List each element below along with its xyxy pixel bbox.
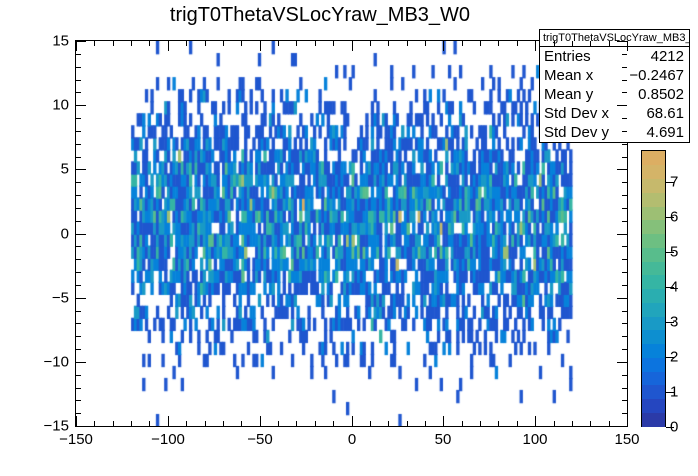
x-tick-minor	[94, 421, 95, 426]
y-tick-minor-right	[622, 259, 627, 260]
x-tick-minor-top	[498, 41, 499, 46]
y-tick-minor	[76, 182, 81, 183]
x-tick-minor	[407, 421, 408, 426]
y-tick-minor-right	[622, 311, 627, 312]
stats-value: 0.8502	[638, 86, 684, 103]
stats-value: −0.2467	[629, 67, 684, 84]
palette-tick-label: 2	[670, 349, 678, 366]
x-tick-major-top	[76, 41, 77, 51]
x-tick-minor-top	[333, 41, 334, 46]
palette-tick-label: 7	[670, 174, 678, 191]
x-tick-minor-top	[186, 41, 187, 46]
x-tick-minor-top	[572, 41, 573, 46]
y-tick-major-right	[617, 105, 627, 106]
x-tick-major	[627, 416, 628, 426]
y-tick-minor-right	[622, 195, 627, 196]
x-tick-minor	[315, 421, 316, 426]
x-tick-minor	[388, 421, 389, 426]
x-tick-label: −50	[247, 431, 272, 448]
stats-box-title: trigT0ThetaVSLocYraw_MB3_W0	[540, 30, 689, 47]
x-tick-major	[76, 416, 77, 426]
y-tick-minor	[76, 80, 81, 81]
palette-tick-label: 4	[670, 279, 678, 296]
x-tick-minor-top	[554, 41, 555, 46]
stats-row: Entries4212	[540, 47, 689, 66]
stats-key: Mean y	[544, 86, 593, 103]
y-tick-minor	[76, 311, 81, 312]
y-tick-minor	[76, 323, 81, 324]
x-tick-major-top	[535, 41, 536, 51]
x-tick-minor-top	[370, 41, 371, 46]
x-tick-minor	[113, 421, 114, 426]
x-tick-minor	[554, 421, 555, 426]
y-tick-minor-right	[622, 400, 627, 401]
x-tick-minor	[296, 421, 297, 426]
y-tick-minor	[76, 349, 81, 350]
x-tick-minor-top	[278, 41, 279, 46]
stats-key: Mean x	[544, 67, 593, 84]
x-tick-minor-top	[223, 41, 224, 46]
x-tick-minor	[223, 421, 224, 426]
y-tick-minor	[76, 246, 81, 247]
stats-key: Std Dev x	[544, 105, 609, 122]
x-tick-major	[168, 416, 169, 426]
x-tick-minor-top	[113, 41, 114, 46]
x-tick-major-top	[168, 41, 169, 51]
x-tick-minor-top	[590, 41, 591, 46]
y-tick-minor-right	[622, 208, 627, 209]
x-tick-major-top	[627, 41, 628, 51]
y-tick-minor	[76, 195, 81, 196]
y-tick-major	[76, 234, 86, 235]
y-tick-label: −15	[23, 418, 69, 435]
x-tick-label: 100	[522, 431, 547, 448]
palette-tick-label: 5	[670, 244, 678, 261]
y-tick-major	[76, 298, 86, 299]
stats-row: Mean y0.8502	[540, 85, 689, 104]
stats-row: Std Dev y4.691	[540, 123, 689, 142]
x-tick-label: 150	[614, 431, 639, 448]
y-tick-major-right	[617, 426, 627, 427]
palette-tick-label: 3	[670, 314, 678, 331]
y-tick-major-right	[617, 234, 627, 235]
y-tick-minor	[76, 336, 81, 337]
y-tick-minor	[76, 388, 81, 389]
x-tick-minor-top	[388, 41, 389, 46]
y-tick-minor-right	[622, 157, 627, 158]
stats-value: 4.691	[646, 124, 684, 141]
x-tick-minor	[480, 421, 481, 426]
x-tick-minor-top	[315, 41, 316, 46]
stats-value: 68.61	[646, 105, 684, 122]
y-tick-minor	[76, 144, 81, 145]
y-tick-minor	[76, 285, 81, 286]
y-tick-minor-right	[622, 285, 627, 286]
y-tick-minor	[76, 131, 81, 132]
y-tick-minor	[76, 259, 81, 260]
y-tick-major-right	[617, 41, 627, 42]
x-tick-minor	[425, 421, 426, 426]
root-canvas: trigT0ThetaVSLocYraw_MB3_W0 trigT0ThetaV…	[0, 0, 698, 476]
x-tick-minor	[278, 421, 279, 426]
y-tick-major	[76, 169, 86, 170]
stats-rows: Entries4212Mean x−0.2467Mean y0.8502Std …	[540, 47, 689, 142]
y-tick-label: −5	[23, 290, 69, 307]
y-tick-minor	[76, 375, 81, 376]
x-tick-label: −100	[151, 431, 185, 448]
x-tick-minor	[590, 421, 591, 426]
y-tick-minor-right	[622, 131, 627, 132]
y-tick-label: −10	[23, 354, 69, 371]
x-tick-minor-top	[480, 41, 481, 46]
x-tick-minor-top	[94, 41, 95, 46]
y-tick-label: 5	[23, 161, 69, 178]
y-tick-minor	[76, 54, 81, 55]
stats-row: Mean x−0.2467	[540, 66, 689, 85]
y-tick-minor-right	[622, 67, 627, 68]
y-tick-minor	[76, 67, 81, 68]
x-tick-minor	[572, 421, 573, 426]
x-tick-minor	[517, 421, 518, 426]
y-tick-label: 0	[23, 226, 69, 243]
x-tick-minor-top	[241, 41, 242, 46]
y-tick-major-right	[617, 169, 627, 170]
y-tick-minor	[76, 413, 81, 414]
x-tick-minor	[205, 421, 206, 426]
x-tick-label: 0	[348, 431, 356, 448]
x-tick-label: 50	[435, 431, 452, 448]
y-tick-minor-right	[622, 118, 627, 119]
y-tick-major-right	[617, 362, 627, 363]
y-tick-minor-right	[622, 246, 627, 247]
y-tick-minor-right	[622, 413, 627, 414]
x-tick-major	[443, 416, 444, 426]
x-tick-minor	[462, 421, 463, 426]
y-tick-minor	[76, 400, 81, 401]
x-tick-minor-top	[296, 41, 297, 46]
stats-key: Entries	[544, 48, 591, 65]
x-tick-major-top	[352, 41, 353, 51]
x-tick-minor-top	[609, 41, 610, 46]
x-tick-major	[535, 416, 536, 426]
x-tick-minor	[333, 421, 334, 426]
y-tick-minor	[76, 221, 81, 222]
y-tick-minor	[76, 272, 81, 273]
x-tick-minor	[241, 421, 242, 426]
x-tick-minor	[609, 421, 610, 426]
y-tick-minor	[76, 157, 81, 158]
y-tick-major	[76, 362, 86, 363]
y-tick-minor	[76, 92, 81, 93]
x-tick-minor	[370, 421, 371, 426]
y-tick-major	[76, 41, 86, 42]
x-tick-minor	[186, 421, 187, 426]
y-tick-minor-right	[622, 272, 627, 273]
x-tick-minor-top	[407, 41, 408, 46]
y-tick-minor-right	[622, 80, 627, 81]
y-tick-minor-right	[622, 221, 627, 222]
palette-tick-label: 6	[670, 209, 678, 226]
x-tick-minor-top	[517, 41, 518, 46]
y-tick-minor	[76, 118, 81, 119]
x-tick-minor-top	[462, 41, 463, 46]
y-tick-major-right	[617, 298, 627, 299]
page-title: trigT0ThetaVSLocYraw_MB3_W0	[0, 4, 640, 27]
palette-tick-label: 0	[670, 419, 678, 436]
x-tick-minor-top	[205, 41, 206, 46]
stats-value: 4212	[651, 48, 684, 65]
y-tick-minor-right	[622, 144, 627, 145]
x-tick-minor-top	[425, 41, 426, 46]
y-tick-minor-right	[622, 388, 627, 389]
stats-row: Std Dev x68.61	[540, 104, 689, 123]
x-tick-major	[260, 416, 261, 426]
y-tick-minor	[76, 208, 81, 209]
stats-box[interactable]: trigT0ThetaVSLocYraw_MB3_W0 Entries4212M…	[539, 29, 690, 143]
palette-tick-label: 1	[670, 384, 678, 401]
y-tick-minor-right	[622, 54, 627, 55]
y-tick-major	[76, 426, 86, 427]
x-tick-minor-top	[149, 41, 150, 46]
x-tick-minor	[149, 421, 150, 426]
stats-key: Std Dev y	[544, 124, 609, 141]
x-tick-minor	[131, 421, 132, 426]
y-tick-minor-right	[622, 323, 627, 324]
y-tick-label: 15	[23, 33, 69, 50]
y-tick-major	[76, 105, 86, 106]
y-tick-minor-right	[622, 349, 627, 350]
y-tick-minor-right	[622, 375, 627, 376]
y-tick-minor-right	[622, 92, 627, 93]
x-tick-minor	[498, 421, 499, 426]
x-tick-major	[352, 416, 353, 426]
y-tick-label: 10	[23, 97, 69, 114]
x-tick-minor-top	[131, 41, 132, 46]
y-tick-minor-right	[622, 182, 627, 183]
y-tick-minor-right	[622, 336, 627, 337]
x-tick-major-top	[443, 41, 444, 51]
x-tick-major-top	[260, 41, 261, 51]
